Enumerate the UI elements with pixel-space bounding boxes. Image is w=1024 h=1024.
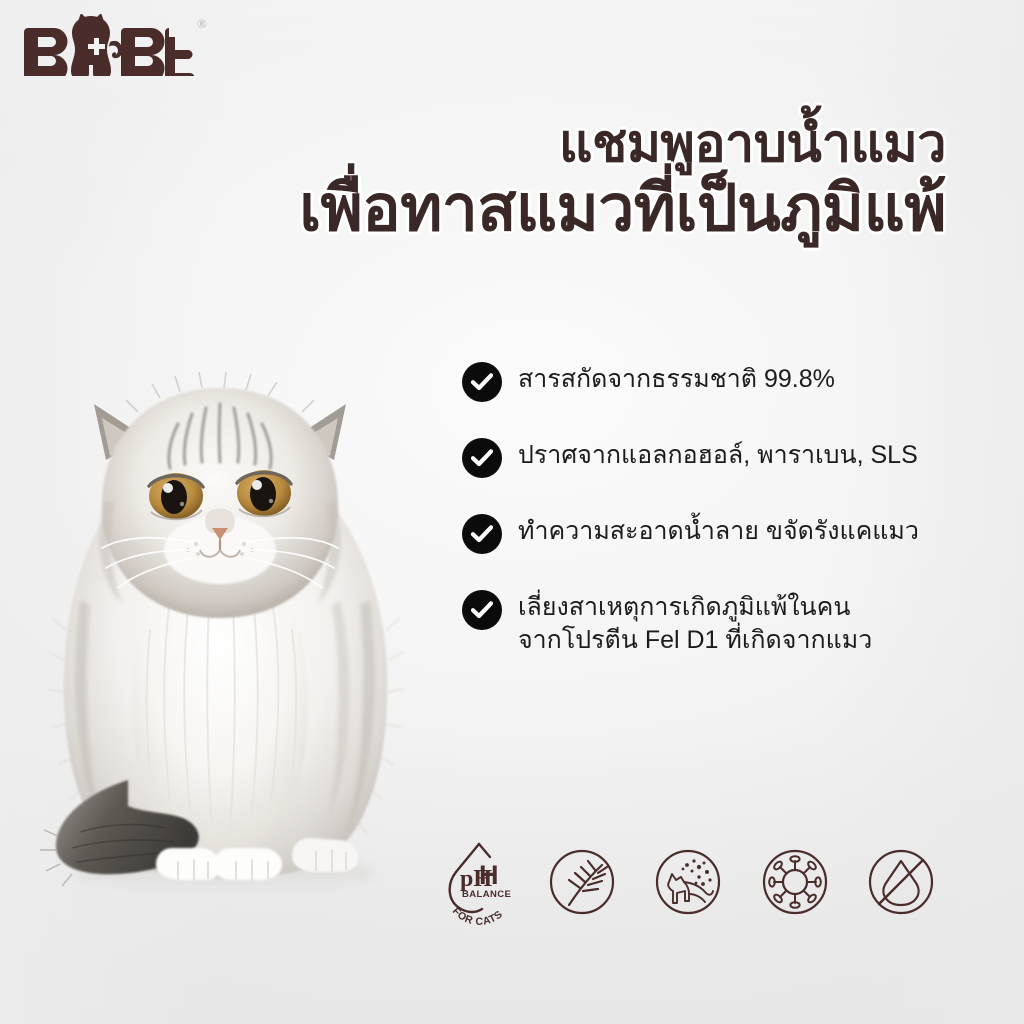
for-cats-label: FOR CATS	[450, 905, 505, 928]
list-item: สารสกัดจากธรรมชาติ 99.8%	[462, 360, 982, 402]
headline: แชมพูอาบน้ำแมว เพื่อทาสแมวที่เป็นภูมิแพ้	[299, 118, 946, 240]
no-water-droplet-icon	[858, 836, 944, 928]
balance-label: BALANCE	[462, 889, 511, 900]
ph-balance-droplet-icon: pH H BALANCE FOR CATS	[432, 836, 518, 928]
promo-poster: ® BABE แชมพูอาบน้ำแมว เพื่อทาสแมวที่เป็น…	[0, 0, 1024, 1024]
feature-text-block: เลี่ยงสาเหตุการเกิดภูมิแพ้ในคน จากโปรตีน…	[518, 588, 872, 657]
cat-dander-icon	[645, 836, 731, 928]
headline-line-2: เพื่อทาสแมวที่เป็นภูมิแพ้	[299, 176, 946, 240]
registered-trademark-symbol: ®	[197, 16, 207, 32]
feature-text: ปราศจากแอลกอฮอล์, พาราเบน, SLS	[518, 436, 918, 472]
headline-line-1: แชมพูอาบน้ำแมว	[299, 118, 946, 170]
check-circle-icon	[462, 362, 502, 402]
feature-text: ทำความสะอาดน้ำลาย ขจัดรังแคแมว	[518, 512, 919, 548]
list-item: ทำความสะอาดน้ำลาย ขจัดรังแคแมว	[462, 512, 982, 554]
feature-text: เลี่ยงสาเหตุการเกิดภูมิแพ้ในคน	[518, 593, 850, 621]
check-circle-icon	[462, 590, 502, 630]
check-circle-icon	[462, 514, 502, 554]
list-item: เลี่ยงสาเหตุการเกิดภูมิแพ้ในคน จากโปรตีน…	[462, 588, 982, 657]
ph-h-letter: H	[479, 860, 499, 890]
virus-germ-icon	[752, 836, 838, 928]
feature-text-second-line: จากโปรตีน Fel D1 ที่เกิดจากแมว	[518, 624, 872, 657]
check-circle-icon	[462, 438, 502, 478]
photo-alt-text: แมวเปอร์เซียขนยาวสีเงินขาวนั่งอยู่	[0, 0, 1, 1]
cat-product-photo	[10, 300, 430, 920]
feature-text: สารสกัดจากธรรมชาติ 99.8%	[518, 360, 835, 396]
badge-row: pH H BALANCE FOR CATS	[432, 832, 944, 932]
herbal-leaf-icon	[539, 836, 625, 928]
list-item: ปราศจากแอลกอฮอล์, พาราเบน, SLS	[462, 436, 982, 478]
brand-logo[interactable]: ® BABE	[24, 14, 207, 76]
feature-list: สารสกัดจากธรรมชาติ 99.8% ปราศจากแอลกอฮอล…	[462, 360, 982, 657]
babe-wordmark-icon	[24, 14, 194, 76]
